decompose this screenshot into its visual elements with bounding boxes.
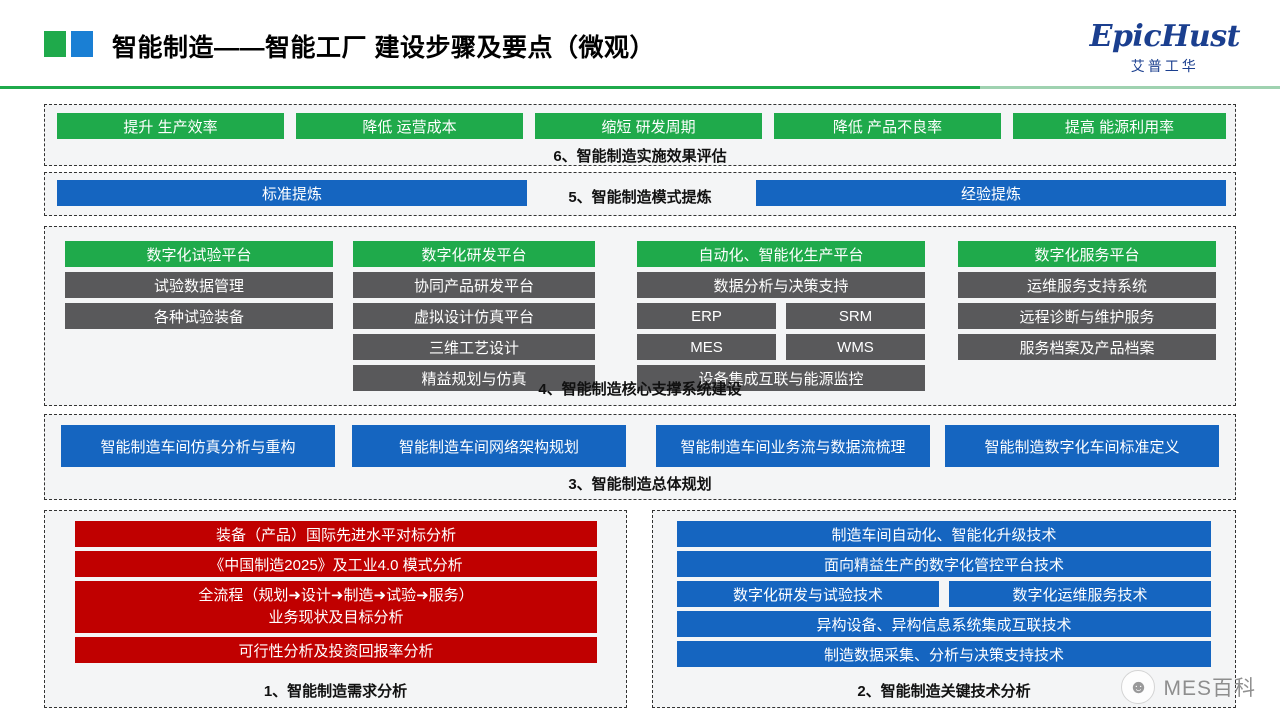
level1-item-4: 可行性分析及投资回报率分析 <box>75 637 597 663</box>
diagram-canvas: 提升 生产效率 降低 运营成本 缩短 研发周期 降低 产品不良率 提高 能源利用… <box>0 92 1280 720</box>
level6-item-3: 缩短 研发周期 <box>535 113 762 139</box>
header-divider <box>0 86 1280 89</box>
level4-col2-row1: 协同产品研发平台 <box>353 272 595 298</box>
level4-col4-row2: 远程诊断与维护服务 <box>958 303 1216 329</box>
level4-col4-head: 数字化服务平台 <box>958 241 1216 267</box>
wechat-icon: ☻ <box>1121 670 1155 704</box>
logo-square-green <box>44 31 66 57</box>
level6-item-2: 降低 运营成本 <box>296 113 523 139</box>
level2-item-4: 数字化运维服务技术 <box>949 581 1211 607</box>
wechat-glyph: ☻ <box>1128 678 1148 697</box>
watermark: ☻ MES百科 <box>1121 670 1256 704</box>
level3-item-2: 智能制造车间网络架构规划 <box>352 425 626 467</box>
level4-col2-row2: 虚拟设计仿真平台 <box>353 303 595 329</box>
logo-square-blue <box>71 31 93 57</box>
level2-item-1: 制造车间自动化、智能化升级技术 <box>677 521 1211 547</box>
level4-col1-row1: 试验数据管理 <box>65 272 333 298</box>
level5-caption: 5、智能制造模式提炼 <box>45 186 1235 207</box>
level4-col3-wms: WMS <box>786 334 925 360</box>
level6-item-4: 降低 产品不良率 <box>774 113 1001 139</box>
level1-item-3-line2: 业务现状及目标分析 <box>268 607 403 630</box>
level2-item-6: 制造数据采集、分析与决策支持技术 <box>677 641 1211 667</box>
level2-item-3: 数字化研发与试验技术 <box>677 581 939 607</box>
level6-group: 提升 生产效率 降低 运营成本 缩短 研发周期 降低 产品不良率 提高 能源利用… <box>44 104 1236 166</box>
brand-logo: EpicHust 艾普工华 <box>1090 22 1240 76</box>
level4-caption: 4、智能制造核心支撑系统建设 <box>45 378 1235 399</box>
level4-col2-head: 数字化研发平台 <box>353 241 595 267</box>
level4-col3-row1: 数据分析与决策支持 <box>637 272 925 298</box>
level4-col2-row3: 三维工艺设计 <box>353 334 595 360</box>
level4-col4-row3: 服务档案及产品档案 <box>958 334 1216 360</box>
level4-col3-head: 自动化、智能化生产平台 <box>637 241 925 267</box>
level4-col4-row1: 运维服务支持系统 <box>958 272 1216 298</box>
brand-name-cn: 艾普工华 <box>1090 56 1240 76</box>
page-title: 智能制造——智能工厂 建设步骤及要点（微观） <box>112 28 655 64</box>
level1-item-3-line1: 全流程（规划➜设计➜制造➜试验➜服务） <box>198 585 473 608</box>
level3-caption: 3、智能制造总体规划 <box>45 473 1235 494</box>
level4-col3-mes: MES <box>637 334 776 360</box>
logo-squares <box>44 31 93 57</box>
level4-col1-row2: 各种试验装备 <box>65 303 333 329</box>
level4-col3-erp: ERP <box>637 303 776 329</box>
level1-item-2: 《中国制造2025》及工业4.0 模式分析 <box>75 551 597 577</box>
level3-group: 智能制造车间仿真分析与重构 智能制造车间网络架构规划 智能制造车间业务流与数据流… <box>44 414 1236 500</box>
level1-item-1: 装备（产品）国际先进水平对标分析 <box>75 521 597 547</box>
watermark-text: MES百科 <box>1163 672 1256 702</box>
level1-caption: 1、智能制造需求分析 <box>45 680 626 701</box>
level6-item-5: 提高 能源利用率 <box>1013 113 1226 139</box>
level3-item-1: 智能制造车间仿真分析与重构 <box>61 425 335 467</box>
level1-item-3: 全流程（规划➜设计➜制造➜试验➜服务） 业务现状及目标分析 <box>75 581 597 633</box>
level6-caption: 6、智能制造实施效果评估 <box>45 145 1235 166</box>
level5-group: 标准提炼 经验提炼 5、智能制造模式提炼 <box>44 172 1236 216</box>
level4-group: 数字化试验平台 试验数据管理 各种试验装备 数字化研发平台 协同产品研发平台 虚… <box>44 226 1236 406</box>
level3-item-4: 智能制造数字化车间标准定义 <box>945 425 1219 467</box>
level4-col3-srm: SRM <box>786 303 925 329</box>
brand-name: EpicHust <box>1090 22 1240 52</box>
page-header: 智能制造——智能工厂 建设步骤及要点（微观） EpicHust 艾普工华 <box>0 0 1280 88</box>
level2-item-5: 异构设备、异构信息系统集成互联技术 <box>677 611 1211 637</box>
level1-group: 装备（产品）国际先进水平对标分析 《中国制造2025》及工业4.0 模式分析 全… <box>44 510 627 708</box>
level2-item-2: 面向精益生产的数字化管控平台技术 <box>677 551 1211 577</box>
level3-item-3: 智能制造车间业务流与数据流梳理 <box>656 425 930 467</box>
level6-item-1: 提升 生产效率 <box>57 113 284 139</box>
level4-col1-head: 数字化试验平台 <box>65 241 333 267</box>
